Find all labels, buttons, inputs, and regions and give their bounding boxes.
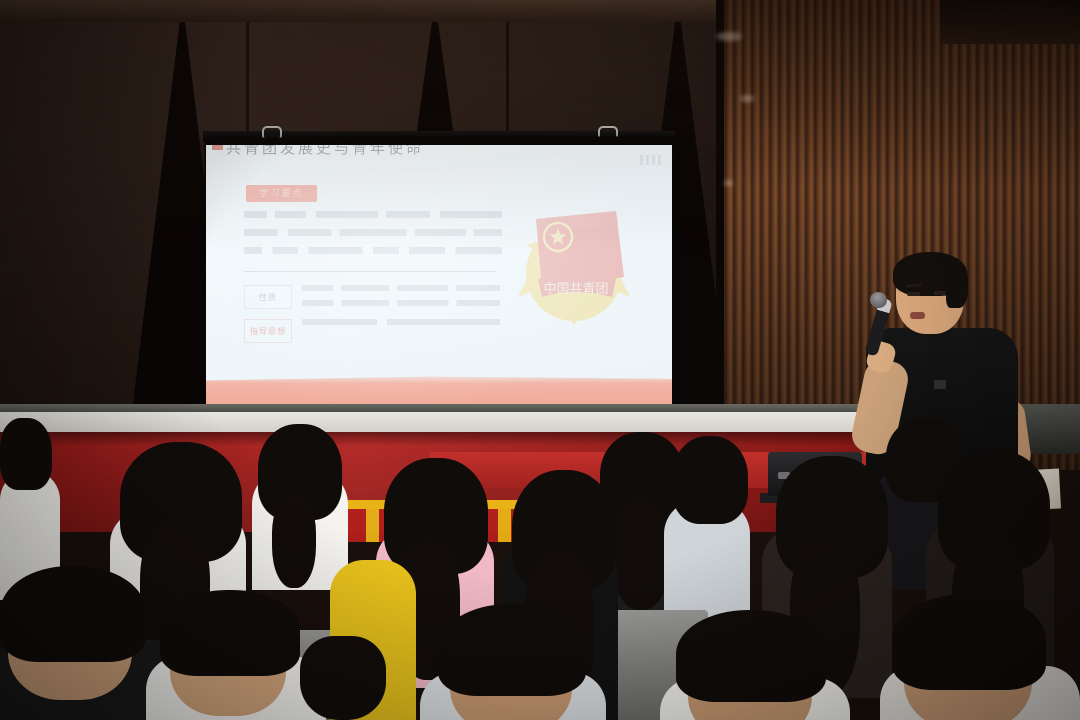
table-row: 指导思想 (244, 319, 500, 343)
slide-title-marker (212, 145, 223, 150)
wall-glint-2 (716, 32, 742, 41)
wood-wall-shadow-top (940, 0, 1080, 44)
audience-ponytail (612, 500, 670, 610)
presenter-eye-right (934, 291, 946, 295)
wood-wall-edge (716, 0, 724, 470)
table-text-line-2 (302, 300, 500, 306)
audience-hair (672, 436, 748, 524)
presenter-mouth (910, 312, 925, 319)
table-row-text (292, 285, 500, 315)
emblem-banner-text: 中国共青团 (543, 281, 608, 296)
communist-youth-league-emblem: 中国共青团 (512, 193, 640, 327)
slide-body-line-3 (244, 247, 502, 254)
slide-corner-mark (640, 155, 662, 165)
table-row-label: 指导思想 (244, 319, 292, 343)
audience-hair (892, 594, 1046, 690)
slide-body-line-2 (244, 229, 502, 236)
audience-hair (676, 610, 826, 702)
slide-title-area: 共青团发展史与青年使命 (206, 145, 672, 158)
audience-ponytail (272, 496, 316, 588)
wall-glint-1 (740, 95, 754, 102)
audience-ponytail (300, 636, 386, 720)
audience-hair (438, 604, 586, 696)
audience-hair (0, 418, 52, 490)
table-text-line-1 (302, 285, 500, 291)
wall-glint-3 (724, 180, 733, 186)
slide-title: 共青团发展史与青年使命 (226, 145, 424, 158)
presentation-slide: 共青团发展史与青年使命 学习要点 性质 指导思想 (206, 145, 672, 410)
slide-body-line-1 (244, 211, 502, 218)
table-row: 性质 (244, 285, 500, 315)
table-text-line-3 (302, 319, 500, 325)
audience-hair (160, 590, 300, 676)
table-row-text (292, 319, 500, 334)
stage-skirt-shadow (0, 432, 900, 446)
presenter-hair-side (946, 262, 968, 308)
slide-tag-badge: 学习要点 (246, 185, 317, 202)
slide-divider (244, 271, 496, 272)
slide-body-text (244, 211, 502, 265)
slide-tag-label: 学习要点 (246, 185, 317, 202)
table-row-label: 性质 (244, 285, 292, 309)
lecture-hall-photo: 共青团发展史与青年使命 学习要点 性质 指导思想 (0, 0, 1080, 720)
slide-info-table: 性质 指导思想 (244, 285, 500, 343)
audience-hair (0, 566, 146, 662)
shirt-logo (934, 380, 946, 389)
presenter-eye-left (907, 292, 920, 296)
